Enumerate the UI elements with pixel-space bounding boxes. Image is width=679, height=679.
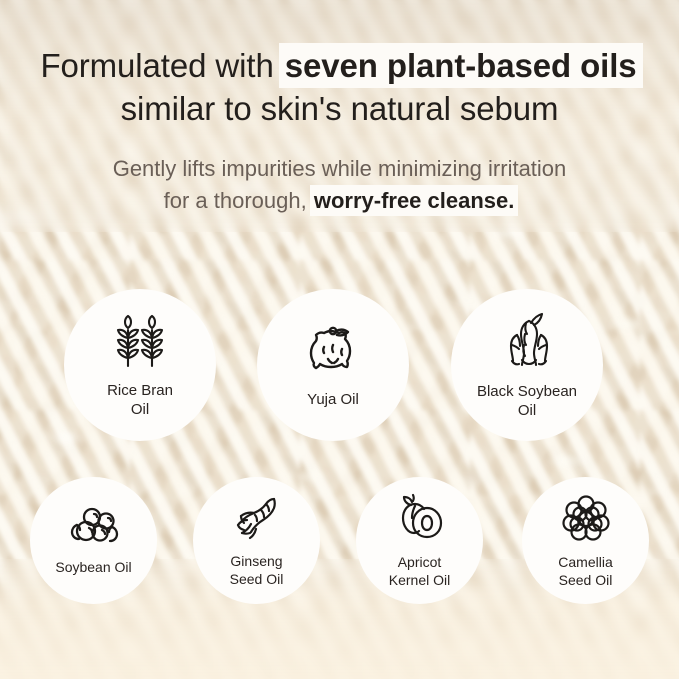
bean-cluster-icon — [66, 505, 122, 549]
ingredient-label: Black Soybean Oil — [477, 382, 577, 420]
wheat-stalks-icon — [110, 312, 170, 370]
ingredient-label: Soybean Oil — [55, 558, 131, 576]
ingredient-badge-yuja-oil[interactable]: Yuja Oil — [257, 289, 409, 441]
soybean-pod-icon — [498, 311, 556, 371]
apricot-halved-icon — [393, 492, 447, 544]
ingredient-badge-ginseng-seed-oil[interactable]: Ginseng Seed Oil — [193, 477, 320, 604]
ginseng-root-icon — [230, 493, 284, 543]
ingredient-badge-soybean-oil[interactable]: Soybean Oil — [30, 477, 157, 604]
ingredient-label: Ginseng Seed Oil — [230, 552, 284, 588]
ingredient-label: Rice Bran Oil — [107, 381, 173, 419]
ingredient-badge-apricot-kernel-oil[interactable]: Apricot Kernel Oil — [356, 477, 483, 604]
camellia-flower-icon — [559, 492, 613, 544]
ingredient-label: Apricot Kernel Oil — [389, 553, 450, 589]
ingredient-badge-grid: Rice Bran Oil Yuja Oil — [0, 0, 679, 679]
ingredient-label: Camellia Seed Oil — [558, 553, 612, 589]
ingredient-badge-camellia-seed-oil[interactable]: Camellia Seed Oil — [522, 477, 649, 604]
ingredient-badge-rice-bran-oil[interactable]: Rice Bran Oil — [64, 289, 216, 441]
ingredient-badge-black-soybean-oil[interactable]: Black Soybean Oil — [451, 289, 603, 441]
citrus-fruit-icon — [302, 321, 364, 379]
product-benefit-poster: Formulated with seven plant-based oils s… — [0, 0, 679, 679]
ingredient-label: Yuja Oil — [307, 390, 359, 409]
